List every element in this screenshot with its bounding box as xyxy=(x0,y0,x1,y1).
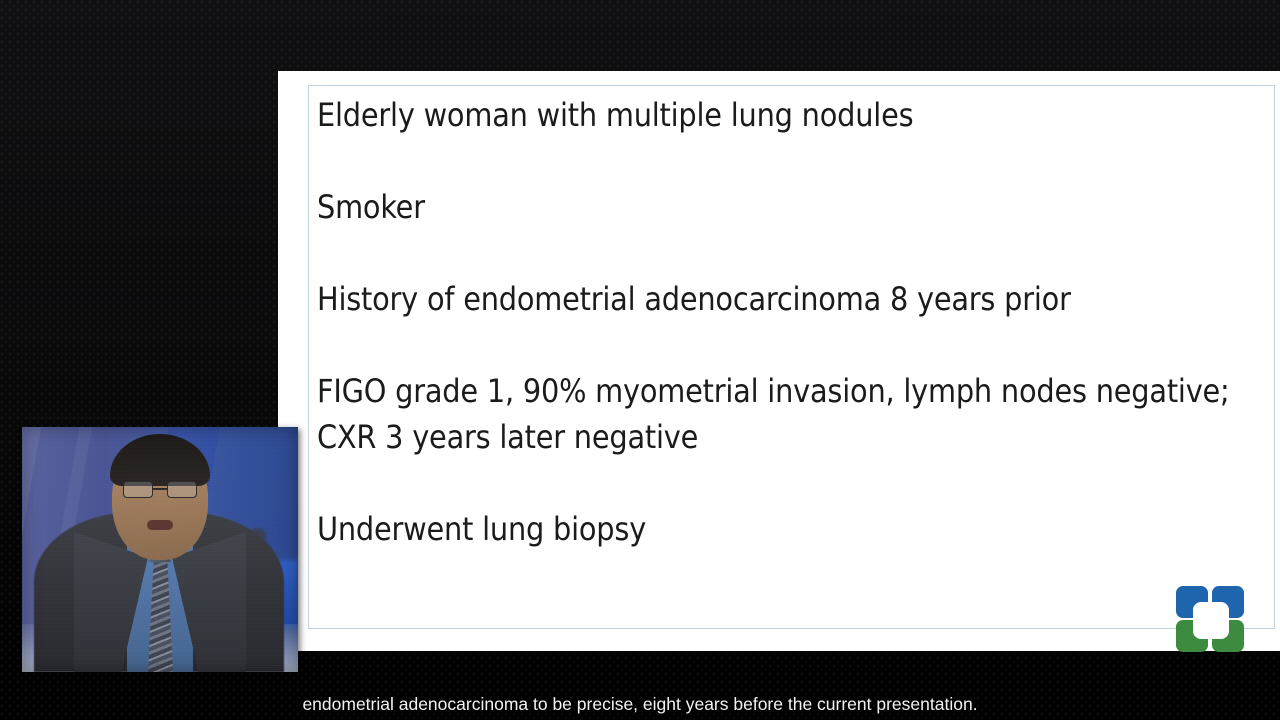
logo-center-notch xyxy=(1193,602,1229,639)
slide-bullet-4: FIGO grade 1, 90% myometrial invasion, l… xyxy=(317,368,1268,460)
slide-content-frame: Elderly woman with multiple lung nodules… xyxy=(308,85,1275,629)
video-vignette xyxy=(22,427,298,672)
slide-bullet-1: Elderly woman with multiple lung nodules xyxy=(317,92,1268,138)
presentation-slide: Elderly woman with multiple lung nodules… xyxy=(278,71,1280,651)
four-square-puzzle-logo xyxy=(1176,586,1246,654)
subtitle-caption: endometrial adenocarcinoma to be precise… xyxy=(0,693,1280,715)
slide-bullet-5: Underwent lung biopsy xyxy=(317,506,1268,552)
player-stage: Elderly woman with multiple lung nodules… xyxy=(0,0,1280,720)
slide-bullet-list: Elderly woman with multiple lung nodules… xyxy=(317,92,1268,624)
slide-bullet-3: History of endometrial adenocarcinoma 8 … xyxy=(317,276,1268,322)
presenter-video-thumbnail[interactable] xyxy=(22,427,298,672)
slide-bullet-2: Smoker xyxy=(317,184,1268,230)
